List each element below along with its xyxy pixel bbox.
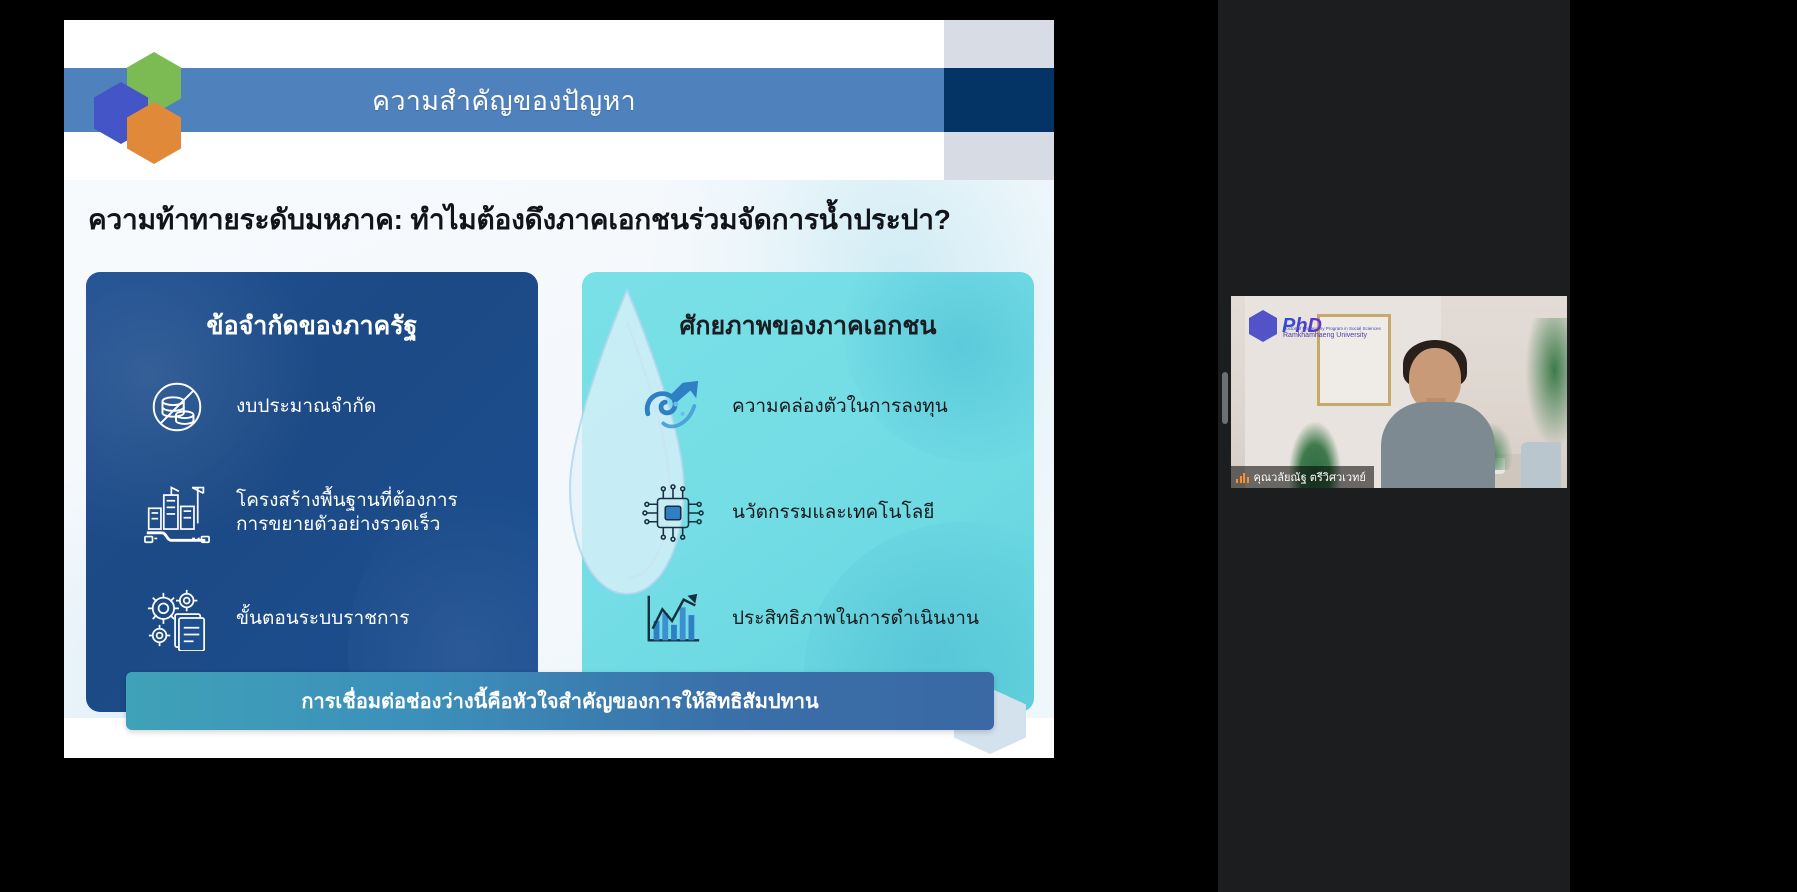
card-public-sector-limitations[interactable]: ข้อจำกัดของภาครัฐ (86, 272, 538, 712)
growth-bar-chart-icon (634, 584, 712, 654)
list-item-label: งบประมาณจำกัด (236, 395, 376, 419)
scrollbar-thumb[interactable] (1222, 372, 1228, 424)
letterbox-right (1570, 0, 1797, 892)
list-item[interactable]: นวัตกรรมและเทคโนโลยี (634, 478, 1016, 548)
card-left-item-list: งบประมาณจำกัด (86, 372, 538, 654)
header-accent-block-top (944, 20, 1054, 68)
screen-root: ความสำคัญของปัญหา ความท้าทายระดับมหภาค: … (0, 0, 1797, 892)
microphone-level-icon (1236, 472, 1249, 483)
slide-bottom-banner: การเชื่อมต่อช่องว่างนี้คือหัวใจสำคัญของก… (126, 672, 994, 730)
header-accent-block-bottom (944, 132, 1054, 180)
card-right-title: ศักยภาพของภาคเอกชน (582, 306, 1034, 346)
slide-body: ความท้าทายระดับมหภาค: ทำไมต้องดึงภาคเอกช… (64, 180, 1054, 758)
list-item[interactable]: ความคล่องตัวในการลงทุน (634, 372, 1016, 442)
slide-heading: ความท้าทายระดับมหภาค: ทำไมต้องดึงภาคเอกช… (88, 198, 1028, 242)
card-private-sector-potential[interactable]: ศักยภาพของภาคเอกชน (582, 272, 1034, 712)
list-item-label: นวัตกรรมและเทคโนโลยี (732, 501, 934, 525)
university-crest-icon (1249, 310, 1277, 342)
presentation-slide[interactable]: ความสำคัญของปัญหา ความท้าทายระดับมหภาค: … (64, 20, 1054, 758)
list-item-label: ความคล่องตัวในการลงทุน (732, 395, 948, 419)
card-right-item-list: ความคล่องตัวในการลงทุน (582, 372, 1034, 654)
phd-university-line: Ramkhamhaeng University (1283, 332, 1367, 339)
armchair (1521, 442, 1561, 488)
header-band-dark-block (944, 68, 1054, 132)
no-budget-coins-icon (138, 372, 216, 442)
gears-document-bureaucracy-icon (138, 584, 216, 654)
slide-top-strip (64, 20, 1054, 68)
upward-arrow-swirl-icon (634, 372, 712, 442)
list-item-label: ขั้นตอนระบบราชการ (236, 607, 409, 631)
list-item[interactable]: ประสิทธิภาพในการดำเนินงาน (634, 584, 1016, 654)
participant-video (1379, 338, 1497, 488)
list-item-label: ประสิทธิภาพในการดำเนินงาน (732, 607, 979, 631)
list-item[interactable]: งบประมาณจำกัด (138, 372, 520, 442)
hexagon-logo-cluster (82, 50, 202, 165)
participant-name-tag: คุณวลัยณัฐ ตรีวิศวเวทย์ (1231, 466, 1374, 488)
participant-torso (1381, 402, 1495, 488)
card-left-title: ข้อจำกัดของภาครัฐ (86, 306, 538, 346)
participant-name-label: คุณวลัยณัฐ ตรีวิศวเวทย์ (1254, 468, 1366, 486)
phd-program-line: Doctor of Philosophy Program in Social S… (1283, 326, 1381, 331)
list-item-label: โครงสร้างพื้นฐานที่ต้องการ การขยายตัวอย่… (236, 489, 458, 537)
palm-plant (1525, 318, 1567, 448)
city-construction-pipeline-icon (138, 478, 216, 548)
comparison-cards: ข้อจำกัดของภาครัฐ (86, 272, 1034, 712)
webcam-video-tile[interactable]: PhD Doctor of Philosophy Program in Soci… (1231, 296, 1567, 488)
microchip-innovation-icon (634, 478, 712, 548)
list-item[interactable]: ขั้นตอนระบบราชการ (138, 584, 520, 654)
letterbox-left (0, 0, 64, 892)
list-item[interactable]: โครงสร้างพื้นฐานที่ต้องการ การขยายตัวอย่… (138, 478, 520, 548)
